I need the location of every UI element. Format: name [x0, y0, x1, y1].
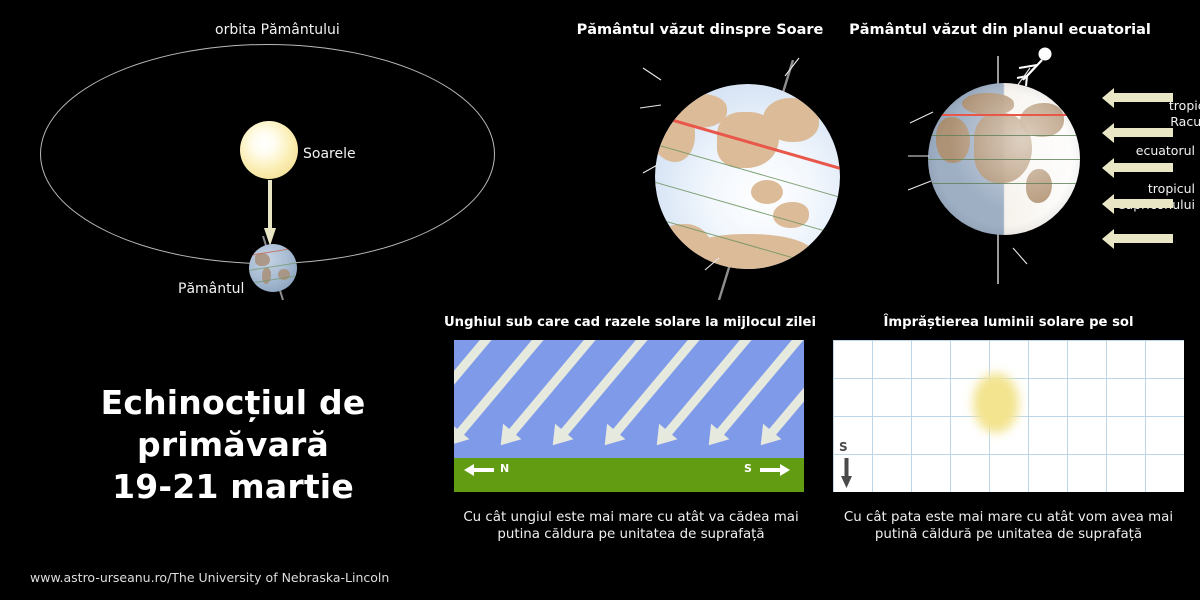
down-arrow-icon	[841, 458, 852, 488]
credit-footer: www.astro-urseanu.ro/The University of N…	[30, 570, 389, 585]
orbit-label: orbita Pământului	[215, 22, 340, 38]
sun-ray-arrow-icon	[1113, 128, 1173, 137]
sun-ray-arrow-icon	[1113, 93, 1173, 102]
headline-line-1: Echinocțiul de primăvară	[28, 382, 438, 466]
compass-label-north: N	[500, 462, 509, 475]
person-stick-figure-icon	[1013, 46, 1057, 88]
orbit-diagram: orbita Pământului Soarele Pământul	[0, 0, 520, 320]
sunlight-spot	[973, 373, 1019, 433]
compass-label-south: S	[744, 462, 752, 475]
earth-globe-small	[249, 244, 297, 292]
infographic-canvas: orbita Pământului Soarele Pământul Pămân…	[0, 0, 1200, 600]
sun-icon	[240, 121, 298, 179]
spot-axis-label: S	[839, 440, 848, 454]
sun-view-diagram: tropicul Racului ecuatorul tropicul Capr…	[555, 18, 845, 308]
sun-ray-arrow-icon	[1113, 199, 1173, 208]
north-arrow-icon	[464, 464, 494, 476]
sun-ray-arrow-icon	[1113, 234, 1173, 243]
light-scatter-diagram: S	[833, 340, 1184, 492]
earth-globe-sun-view	[655, 84, 840, 269]
angle-panel-title: Unghiul sub care cad razele solare la mi…	[440, 315, 820, 330]
page-title: Echinocțiul de primăvară 19-21 martie	[28, 382, 438, 509]
sun-label: Soarele	[303, 146, 356, 162]
earth-globe-equatorial-view	[928, 83, 1080, 235]
angle-panel-caption: Cu cât ungiul este mai mare cu atât va c…	[440, 510, 822, 544]
south-arrow-icon	[760, 464, 790, 476]
equatorial-view-diagram: tropicul Racului ecuatorul tropicul Capr…	[845, 18, 1200, 308]
solar-angle-diagram: N S	[454, 340, 804, 492]
headline-line-2: 19-21 martie	[28, 466, 438, 508]
spot-panel-caption: Cu cât pata este mai mare cu atât vom av…	[826, 510, 1191, 544]
earth-label: Pământul	[178, 281, 244, 297]
sun-ray-arrow-icon	[1113, 163, 1173, 172]
spot-panel-title: Împrăștierea luminii solare pe sol	[830, 315, 1187, 330]
